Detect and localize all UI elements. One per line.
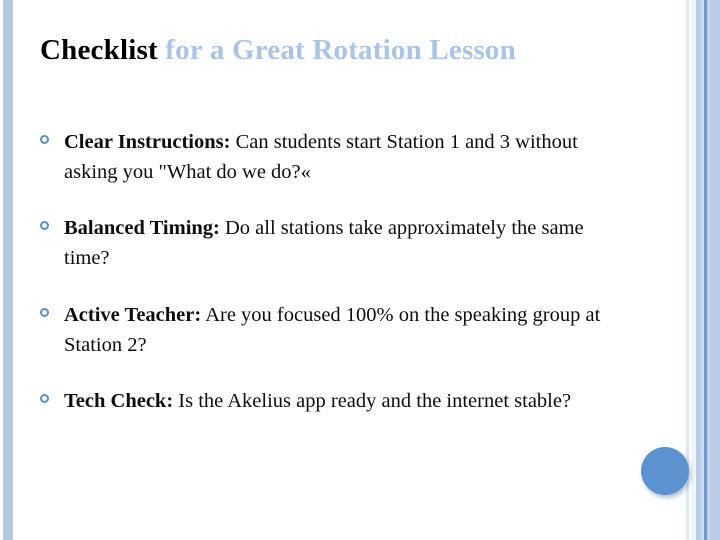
right-accent-bar-2 <box>691 0 696 540</box>
slide-canvas: Checklist for a Great Rotation Lesson Cl… <box>0 0 720 540</box>
right-accent-bar-6 <box>707 0 711 540</box>
list-item: Clear Instructions: Can students start S… <box>40 128 640 187</box>
blue-circle-accent <box>641 447 689 495</box>
left-accent-bar <box>3 0 13 540</box>
list-item-lead: Clear Instructions: <box>64 131 230 153</box>
right-accent-bar-5 <box>704 0 707 540</box>
list-item-lead: Tech Check: <box>64 390 173 412</box>
list-item-body: Is the Akelius app ready and the interne… <box>173 390 571 412</box>
list-item-lead: Balanced Timing: <box>64 217 220 239</box>
list-item: Active Teacher: Are you focused 100% on … <box>40 301 640 360</box>
list-item-text: Tech Check: Is the Akelius app ready and… <box>64 387 609 417</box>
list-item-text: Balanced Timing: Do all stations take ap… <box>64 214 609 273</box>
list-item-text: Active Teacher: Are you focused 100% on … <box>64 301 609 360</box>
slide-title-secondary: for a Great Rotation Lesson <box>158 34 516 66</box>
slide-title: Checklist for a Great Rotation Lesson <box>40 30 600 71</box>
right-accent-bar-4 <box>701 0 704 540</box>
right-accent-bar-7 <box>711 0 720 540</box>
hollow-circle-bullet-icon <box>40 387 64 403</box>
bullet-list: Clear Instructions: Can students start S… <box>40 128 640 444</box>
list-item-text: Clear Instructions: Can students start S… <box>64 128 609 187</box>
hollow-circle-bullet-icon <box>40 301 64 317</box>
list-item: Balanced Timing: Do all stations take ap… <box>40 214 640 273</box>
hollow-circle-bullet-icon <box>40 128 64 144</box>
list-item-lead: Active Teacher: <box>64 304 201 326</box>
list-item: Tech Check: Is the Akelius app ready and… <box>40 387 640 417</box>
right-accent-bar-1 <box>686 0 689 540</box>
hollow-circle-bullet-icon <box>40 214 64 230</box>
slide-title-primary: Checklist <box>40 34 158 66</box>
right-accent-bar-3 <box>696 0 701 540</box>
